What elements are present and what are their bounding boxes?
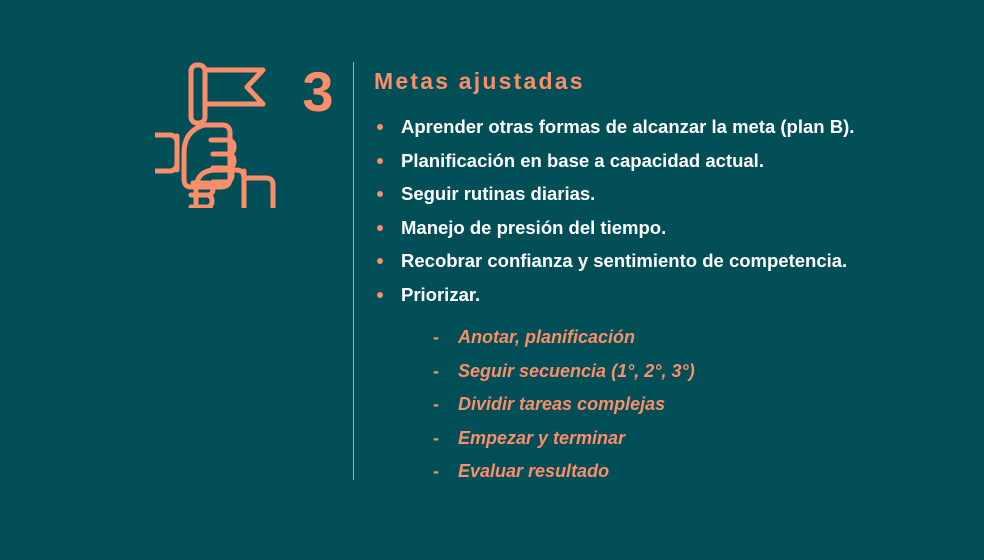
sub-list-item-label: Empezar y terminar bbox=[458, 428, 625, 448]
sub-list-item: - Empezar y terminar bbox=[433, 422, 964, 456]
list-item-label: Priorizar. bbox=[401, 284, 480, 305]
bullet-list: Aprender otras formas de alcanzar la met… bbox=[374, 110, 964, 311]
sub-list-item: - Seguir secuencia (1°, 2°, 3°) bbox=[433, 355, 964, 389]
bullet-dot-icon bbox=[377, 258, 383, 264]
slide-canvas: 3 Metas ajustadas Aprender otras formas … bbox=[0, 0, 984, 560]
sub-bullet-list: - Anotar, planificación - Seguir secuenc… bbox=[374, 321, 964, 489]
vertical-divider bbox=[353, 62, 354, 480]
list-item: Seguir rutinas diarias. bbox=[374, 177, 964, 211]
step-number: 3 bbox=[290, 62, 346, 122]
list-item-label: Recobrar confianza y sentimiento de comp… bbox=[401, 250, 847, 271]
dash-marker-icon: - bbox=[433, 455, 439, 489]
bullet-dot-icon bbox=[377, 191, 383, 197]
sub-list-item-label: Evaluar resultado bbox=[458, 461, 609, 481]
bullet-dot-icon bbox=[377, 158, 383, 164]
list-item: Manejo de presión del tiempo. bbox=[374, 211, 964, 245]
bullet-dot-icon bbox=[377, 124, 383, 130]
list-item-label: Aprender otras formas de alcanzar la met… bbox=[401, 116, 854, 137]
list-item-label: Planificación en base a capacidad actual… bbox=[401, 150, 764, 171]
list-item-label: Seguir rutinas diarias. bbox=[401, 183, 595, 204]
bullet-dot-icon bbox=[377, 225, 383, 231]
dash-marker-icon: - bbox=[433, 422, 439, 456]
sub-list-item-label: Dividir tareas complejas bbox=[458, 394, 665, 414]
sub-list-item-label: Seguir secuencia (1°, 2°, 3°) bbox=[458, 361, 695, 381]
dash-marker-icon: - bbox=[433, 355, 439, 389]
list-item-label: Manejo de presión del tiempo. bbox=[401, 217, 666, 238]
two-hands-holding-flag-icon bbox=[155, 58, 280, 208]
section-title: Metas ajustadas bbox=[374, 66, 964, 96]
sub-list-item: - Anotar, planificación bbox=[433, 321, 964, 355]
list-item: Recobrar confianza y sentimiento de comp… bbox=[374, 244, 964, 278]
content-column: Metas ajustadas Aprender otras formas de… bbox=[374, 66, 964, 489]
list-item: Aprender otras formas de alcanzar la met… bbox=[374, 110, 964, 144]
dash-marker-icon: - bbox=[433, 388, 439, 422]
sub-list-item: - Dividir tareas complejas bbox=[433, 388, 964, 422]
dash-marker-icon: - bbox=[433, 321, 439, 355]
flag-hands-illustration bbox=[155, 58, 280, 208]
list-item: Priorizar. bbox=[374, 278, 964, 312]
bullet-dot-icon bbox=[377, 292, 383, 298]
sub-list-item-label: Anotar, planificación bbox=[458, 327, 635, 347]
list-item: Planificación en base a capacidad actual… bbox=[374, 144, 964, 178]
sub-list-item: - Evaluar resultado bbox=[433, 455, 964, 489]
